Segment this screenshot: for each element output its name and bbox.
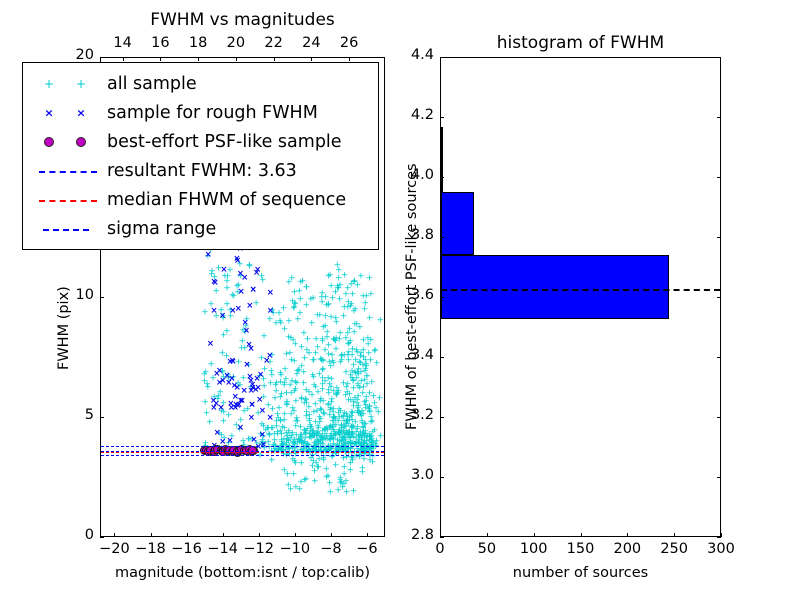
scatter-point-all-sample: +: [349, 377, 357, 386]
histogram-data-layer: [441, 58, 720, 536]
matplotlib-figure: FWHM vs magnitudes +++++++++++++++++++++…: [0, 0, 800, 600]
scatter-point-rough-fwhm: ×: [229, 358, 236, 367]
scatter-x-tick: [223, 533, 224, 537]
scatter-point-all-sample: +: [350, 488, 358, 497]
scatter-point-all-sample: +: [287, 334, 295, 343]
scatter-point-all-sample: +: [310, 357, 318, 366]
legend-entry[interactable]: ++all sample: [31, 69, 370, 98]
scatter-point-all-sample: +: [290, 407, 298, 416]
scatter-point-rough-fwhm: ×: [259, 431, 266, 440]
scatter-point-all-sample: +: [268, 457, 276, 466]
scatter-point-rough-fwhm: ×: [267, 414, 274, 423]
histogram-y-tick-right: [717, 537, 721, 538]
scatter-point-rough-fwhm: ×: [237, 424, 244, 433]
scatter-point-rough-fwhm: ×: [233, 255, 240, 264]
legend-entry[interactable]: ××sample for rough FWHM: [31, 98, 370, 127]
scatter-point-rough-fwhm: ×: [216, 378, 223, 387]
histogram-y-tick: [440, 537, 444, 538]
scatter-point-all-sample: +: [220, 332, 228, 341]
histogram-y-tick: [440, 57, 444, 58]
scatter-x-tick-label: −6: [337, 541, 397, 557]
dashed-line-icon: [39, 171, 97, 173]
scatter-point-rough-fwhm: ×: [229, 307, 236, 316]
scatter-point-all-sample: +: [329, 405, 337, 414]
scatter-point-all-sample: +: [289, 430, 297, 439]
scatter-point-rough-fwhm: ×: [267, 306, 274, 315]
scatter-point-all-sample: +: [335, 275, 343, 284]
scatter-hline-median-fhwm-of-sequence: [101, 452, 384, 453]
scatter-x-tick: [367, 533, 368, 537]
scatter-point-rough-fwhm: ×: [247, 345, 254, 354]
histogram-y-tick-right: [717, 357, 721, 358]
scatter-point-all-sample: +: [320, 410, 328, 419]
legend-label: median FHWM of sequence: [107, 190, 346, 210]
scatter-top-x-tick: [349, 57, 350, 61]
scatter-point-all-sample: +: [314, 311, 322, 320]
scatter-top-x-tick: [311, 57, 312, 61]
plus-marker-icon: +: [76, 78, 86, 90]
scatter-point-rough-fwhm: ×: [214, 429, 221, 438]
scatter-plot-title: FWHM vs magnitudes: [100, 10, 385, 30]
scatter-point-all-sample: +: [275, 404, 283, 413]
histogram-axes: [440, 57, 721, 537]
scatter-top-x-tick: [160, 57, 161, 61]
histogram-bar: [441, 255, 669, 320]
scatter-point-all-sample: +: [202, 368, 210, 377]
scatter-point-rough-fwhm: ×: [259, 406, 266, 415]
scatter-point-rough-fwhm: ×: [267, 289, 274, 298]
scatter-point-rough-fwhm: ×: [210, 307, 217, 316]
scatter-point-all-sample: +: [274, 431, 282, 440]
plus-marker-icon: +: [44, 78, 54, 90]
histogram-y-tick-right: [717, 57, 721, 58]
legend-entry[interactable]: median FHWM of sequence: [31, 185, 370, 214]
scatter-point-all-sample: +: [292, 417, 300, 426]
histogram-y-tick-right: [717, 177, 721, 178]
scatter-point-rough-fwhm: ×: [248, 413, 255, 422]
histogram-x-axis-label: number of sources: [440, 565, 721, 581]
circle-marker-icon: [76, 137, 86, 147]
scatter-point-all-sample: +: [311, 468, 319, 477]
histogram-y-tick-label: 3.0: [384, 467, 434, 483]
scatter-point-all-sample: +: [295, 366, 303, 375]
scatter-point-all-sample: +: [292, 379, 300, 388]
histogram-x-tick: [581, 533, 582, 537]
scatter-point-all-sample: +: [201, 308, 209, 317]
histogram-bar: [441, 127, 443, 192]
scatter-point-all-sample: +: [359, 464, 367, 473]
scatter-point-rough-fwhm: ×: [246, 372, 253, 381]
scatter-point-all-sample: +: [376, 317, 384, 326]
scatter-point-all-sample: +: [285, 278, 293, 287]
legend-entry[interactable]: resultant FWHM: 3.63: [31, 156, 370, 185]
scatter-x-tick: [151, 533, 152, 537]
scatter-point-rough-fwhm: ×: [231, 382, 238, 391]
scatter-x-tick: [259, 533, 260, 537]
scatter-x-axis-label: magnitude (bottom:isnt / top:calib): [100, 565, 385, 581]
scatter-point-all-sample: +: [310, 382, 318, 391]
scatter-point-all-sample: +: [238, 345, 246, 354]
histogram-y-tick-label: 4.2: [384, 107, 434, 123]
scatter-point-all-sample: +: [325, 273, 333, 282]
scatter-point-all-sample: +: [280, 305, 288, 314]
scatter-point-all-sample: +: [341, 410, 349, 419]
scatter-point-all-sample: +: [287, 485, 295, 494]
histogram-y-tick-label: 2.8: [384, 527, 434, 543]
scatter-point-rough-fwhm: ×: [237, 270, 244, 279]
scatter-point-all-sample: +: [326, 488, 334, 497]
scatter-point-rough-fwhm: ×: [246, 302, 253, 311]
scatter-point-all-sample: +: [349, 290, 357, 299]
scatter-point-all-sample: +: [340, 312, 348, 321]
histogram-x-tick-label: 300: [691, 541, 751, 557]
scatter-point-all-sample: +: [281, 365, 289, 374]
scatter-point-all-sample: +: [291, 300, 299, 309]
scatter-point-all-sample: +: [371, 346, 379, 355]
scatter-point-all-sample: +: [340, 470, 348, 479]
scatter-point-all-sample: +: [322, 426, 330, 435]
scatter-point-all-sample: +: [357, 428, 365, 437]
scatter-point-all-sample: +: [321, 378, 329, 387]
scatter-point-all-sample: +: [325, 351, 333, 360]
scatter-point-all-sample: +: [361, 305, 369, 314]
scatter-point-all-sample: +: [332, 337, 340, 346]
scatter-point-all-sample: +: [311, 477, 319, 486]
scatter-y-axis-label: FWHM (pix): [56, 286, 72, 370]
scatter-point-all-sample: +: [353, 397, 361, 406]
scatter-point-rough-fwhm: ×: [256, 396, 263, 405]
scatter-point-all-sample: +: [360, 456, 368, 465]
scatter-point-all-sample: +: [332, 462, 340, 471]
histogram-title: histogram of FWHM: [440, 33, 721, 53]
scatter-point-all-sample: +: [354, 409, 362, 418]
scatter-y-tick: [100, 417, 104, 418]
scatter-point-all-sample: +: [277, 394, 285, 403]
scatter-point-all-sample: +: [361, 399, 369, 408]
scatter-point-all-sample: +: [334, 487, 342, 496]
scatter-point-all-sample: +: [309, 371, 317, 380]
scatter-point-all-sample: +: [376, 395, 384, 404]
scatter-point-all-sample: +: [324, 301, 332, 310]
scatter-point-all-sample: +: [359, 293, 367, 302]
scatter-point-rough-fwhm: ×: [238, 288, 245, 297]
scatter-point-rough-fwhm: ×: [266, 351, 273, 360]
scatter-x-tick: [295, 533, 296, 537]
legend-key-x-icon: ××: [31, 103, 107, 123]
histogram-bar: [441, 192, 474, 255]
histogram-y-tick-right: [717, 297, 721, 298]
scatter-point-rough-fwhm: ×: [260, 441, 267, 450]
scatter-point-all-sample: +: [277, 378, 285, 387]
legend-label: sigma range: [107, 219, 216, 239]
scatter-top-x-tick: [236, 57, 237, 61]
scatter-point-all-sample: +: [316, 397, 324, 406]
scatter-point-rough-fwhm: ×: [243, 360, 250, 369]
scatter-point-rough-fwhm: ×: [248, 400, 255, 409]
scatter-point-all-sample: +: [252, 299, 260, 308]
histogram-x-tick: [487, 533, 488, 537]
legend-label: best-effort PSF-like sample: [107, 132, 342, 152]
scatter-y-tick: [100, 537, 104, 538]
scatter-y-tick: [100, 297, 104, 298]
scatter-top-x-tick-label: 26: [319, 35, 379, 51]
histogram-y-tick-label: 4.4: [384, 47, 434, 63]
scatter-point-rough-fwhm: ×: [250, 435, 257, 444]
scatter-point-all-sample: +: [259, 277, 267, 286]
scatter-point-all-sample: +: [225, 412, 233, 421]
scatter-point-all-sample: +: [362, 366, 370, 375]
scatter-point-all-sample: +: [366, 314, 374, 323]
histogram-y-tick: [440, 297, 444, 298]
histogram-y-tick: [440, 477, 444, 478]
histogram-y-tick: [440, 117, 444, 118]
scatter-point-all-sample: +: [356, 323, 364, 332]
legend-key-dashdot-line-icon: [31, 219, 107, 239]
scatter-point-all-sample: +: [308, 320, 316, 329]
histogram-y-tick: [440, 357, 444, 358]
scatter-point-all-sample: +: [351, 306, 359, 315]
scatter-top-x-tick: [274, 57, 275, 61]
dashdot-line-icon: [43, 229, 89, 231]
scatter-point-all-sample: +: [318, 293, 326, 302]
histogram-x-tick: [721, 533, 722, 537]
scatter-point-rough-fwhm: ×: [210, 397, 217, 406]
scatter-point-all-sample: +: [308, 392, 316, 401]
scatter-point-all-sample: +: [357, 273, 365, 282]
histogram-x-tick: [534, 533, 535, 537]
scatter-point-rough-fwhm: ×: [205, 251, 212, 260]
scatter-point-all-sample: +: [286, 349, 294, 358]
scatter-x-tick: [114, 533, 115, 537]
scatter-y-tick-label: 0: [42, 527, 94, 543]
scatter-point-rough-fwhm: ×: [243, 327, 250, 336]
legend-label: all sample: [107, 74, 197, 94]
histogram-y-tick: [440, 177, 444, 178]
scatter-point-all-sample: +: [297, 478, 305, 487]
histogram-y-tick-right: [717, 117, 721, 118]
legend-entry[interactable]: best-effort PSF-like sample: [31, 127, 370, 156]
histogram-y-tick-right: [717, 237, 721, 238]
cross-marker-icon: ×: [44, 107, 53, 118]
histogram-y-tick: [440, 237, 444, 238]
legend-key-dashed-line-icon: [31, 161, 107, 181]
scatter-point-all-sample: +: [319, 337, 327, 346]
scatter-top-x-tick: [123, 57, 124, 61]
histogram-x-tick: [627, 533, 628, 537]
circle-marker-icon: [44, 137, 54, 147]
scatter-point-all-sample: +: [359, 346, 367, 355]
legend-box: ++all sample××sample for rough FWHMbest-…: [22, 62, 379, 250]
scatter-point-rough-fwhm: ×: [207, 340, 214, 349]
scatter-point-all-sample: +: [357, 378, 365, 387]
scatter-point-rough-fwhm: ×: [255, 383, 262, 392]
scatter-point-all-sample: +: [206, 418, 214, 427]
scatter-y-tick: [100, 57, 104, 58]
legend-key-circle-icon: [31, 132, 107, 152]
scatter-point-all-sample: +: [298, 343, 306, 352]
scatter-y-tick-label: 20: [42, 47, 94, 63]
scatter-point-all-sample: +: [267, 368, 275, 377]
scatter-point-all-sample: +: [230, 292, 238, 301]
scatter-point-rough-fwhm: ×: [250, 286, 257, 295]
scatter-point-rough-fwhm: ×: [219, 312, 226, 321]
scatter-point-all-sample: +: [266, 315, 274, 324]
scatter-point-all-sample: +: [366, 275, 374, 284]
scatter-point-all-sample: +: [338, 351, 346, 360]
scatter-point-all-sample: +: [280, 467, 288, 476]
scatter-point-rough-fwhm: ×: [220, 266, 227, 275]
scatter-point-all-sample: +: [285, 318, 293, 327]
cross-marker-icon: ×: [76, 107, 85, 118]
scatter-point-all-sample: +: [341, 304, 349, 313]
scatter-point-rough-fwhm: ×: [253, 269, 260, 278]
histogram-y-tick-right: [717, 417, 721, 418]
scatter-x-tick: [331, 533, 332, 537]
scatter-point-all-sample: +: [367, 290, 375, 299]
scatter-point-all-sample: +: [322, 465, 330, 474]
scatter-point-all-sample: +: [307, 295, 315, 304]
histogram-y-axis-label: FWHM of best-effort PSF-like sources: [404, 163, 420, 430]
scatter-point-all-sample: +: [351, 278, 359, 287]
scatter-point-rough-fwhm: ×: [241, 387, 248, 396]
scatter-hline-sigma-range-lower: [101, 455, 384, 456]
scatter-point-all-sample: +: [303, 284, 311, 293]
legend-entry[interactable]: sigma range: [31, 214, 370, 243]
scatter-point-all-sample: +: [260, 333, 268, 342]
scatter-point-all-sample: +: [332, 314, 340, 323]
scatter-hline-sigma-range-upper: [101, 446, 384, 447]
scatter-top-x-tick: [198, 57, 199, 61]
scatter-x-tick: [187, 533, 188, 537]
scatter-point-all-sample: +: [276, 318, 284, 327]
scatter-point-all-sample: +: [212, 288, 220, 297]
scatter-point-all-sample: +: [319, 324, 327, 333]
scatter-point-rough-fwhm: ×: [210, 278, 217, 287]
scatter-point-all-sample: +: [292, 459, 300, 468]
dashed-line-icon: [39, 200, 97, 202]
histogram-hline-resultant-fwhm: [441, 289, 720, 291]
scatter-point-all-sample: +: [313, 429, 321, 438]
legend-key-dashed-line-icon: [31, 190, 107, 210]
scatter-point-all-sample: +: [334, 390, 342, 399]
scatter-point-all-sample: +: [320, 456, 328, 465]
histogram-y-tick: [440, 417, 444, 418]
scatter-point-all-sample: +: [277, 416, 285, 425]
scatter-point-all-sample: +: [204, 383, 212, 392]
scatter-point-all-sample: +: [334, 285, 342, 294]
scatter-point-rough-fwhm: ×: [213, 370, 220, 379]
scatter-point-all-sample: +: [342, 334, 350, 343]
legend-key-plus-icon: ++: [31, 74, 107, 94]
legend-label: resultant FWHM: 3.63: [107, 161, 297, 181]
scatter-point-rough-fwhm: ×: [235, 401, 242, 410]
histogram-x-tick: [674, 533, 675, 537]
legend-label: sample for rough FWHM: [107, 103, 318, 123]
scatter-point-rough-fwhm: ×: [226, 437, 233, 446]
scatter-y-tick-label: 5: [42, 407, 94, 423]
scatter-point-all-sample: +: [298, 396, 306, 405]
scatter-point-all-sample: +: [298, 437, 306, 446]
histogram-y-tick-right: [717, 477, 721, 478]
scatter-point-all-sample: +: [201, 398, 209, 407]
